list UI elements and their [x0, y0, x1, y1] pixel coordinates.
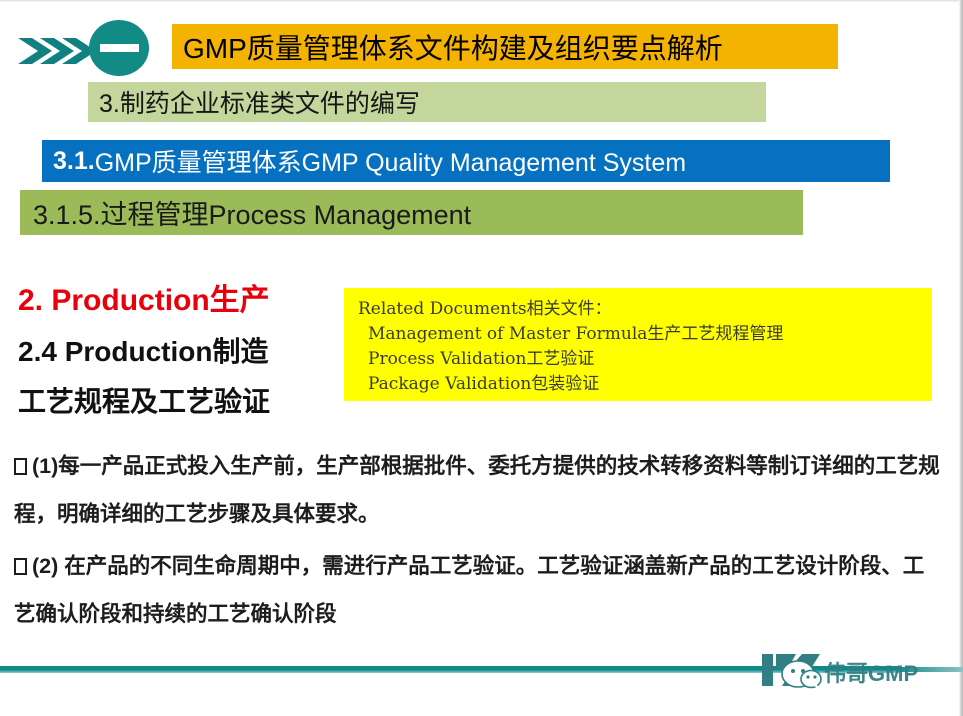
body-paragraph-text: (1)每一产品正式投入生产前，生产部根据批件、委托方提供的技术转移资料等制订详细…: [14, 454, 940, 526]
related-document-item: Management of Master Formula生产工艺规程管理: [358, 322, 932, 347]
slide-right-border: [959, 0, 963, 716]
slide-title-text: GMP质量管理体系文件构建及组织要点解析: [183, 27, 723, 67]
section-banner-2: 3.1. GMP质量管理体系GMP Quality Management Sys…: [42, 140, 890, 182]
related-document-item: Process Validation工艺验证: [358, 347, 932, 372]
body-paragraph-text: (2) 在产品的不同生命周期中，需进行产品工艺验证。工艺验证涵盖新产品的工艺设计…: [14, 554, 924, 626]
section-banner-2-number: 3.1.: [53, 147, 95, 176]
section-banner-3-text: 3.1.5.过程管理Process Management: [33, 193, 471, 232]
related-document-item: Package Validation包装验证: [358, 372, 932, 397]
section-banner-1-text: 3.制药企业标准类文件的编写: [99, 84, 420, 120]
section-banner-2-text: GMP质量管理体系GMP Quality Management System: [95, 143, 686, 179]
body-paragraph: (1)每一产品正式投入生产前，生产部根据批件、委托方提供的技术转移资料等制订详细…: [14, 442, 944, 538]
watermark-text: 伟哥GMP: [824, 656, 918, 688]
production-subheading: 2.4 Production制造: [18, 330, 268, 370]
production-heading: 2. Production生产: [18, 275, 270, 319]
tofu-box-bullet-icon: [14, 558, 27, 575]
related-documents-title: Related Documents相关文件：: [358, 297, 932, 322]
body-paragraph: (2) 在产品的不同生命周期中，需进行产品工艺验证。工艺验证涵盖新产品的工艺设计…: [14, 542, 944, 638]
tofu-box-bullet-icon: [14, 458, 27, 475]
process-validation-heading: 工艺规程及工艺验证: [18, 380, 270, 420]
section-banner-1: 3.制药企业标准类文件的编写: [88, 82, 766, 122]
slide-top-border: [0, 0, 963, 2]
slide-canvas: GMP质量管理体系文件构建及组织要点解析 3.制药企业标准类文件的编写 3.1.…: [0, 0, 963, 716]
watermark: 伟哥GMP: [762, 650, 947, 694]
chevrons-and-circle-minus-icon: [14, 20, 164, 82]
section-banner-3: 3.1.5.过程管理Process Management: [20, 190, 803, 235]
slide-title-banner: GMP质量管理体系文件构建及组织要点解析: [172, 24, 838, 69]
related-documents-box: Related Documents相关文件： Management of Mas…: [344, 288, 932, 401]
